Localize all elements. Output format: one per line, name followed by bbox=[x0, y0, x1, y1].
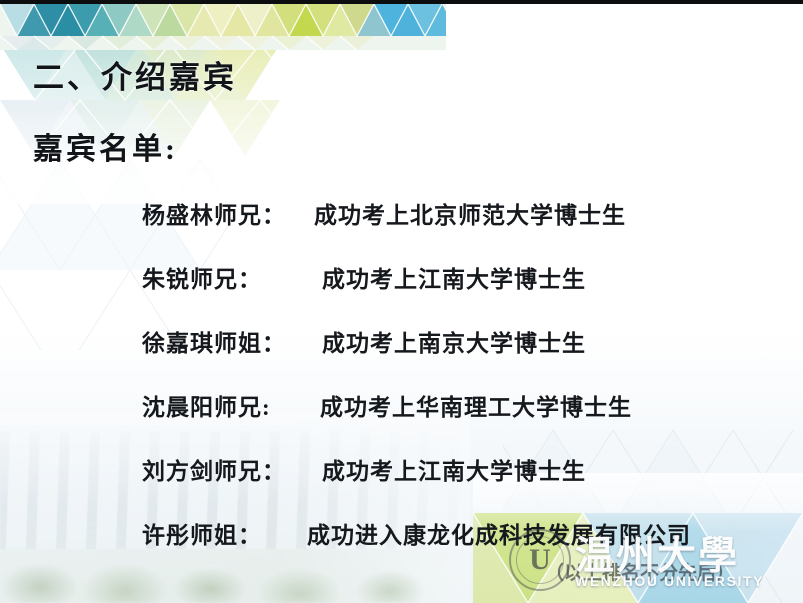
guest-list-item: 杨盛林师兄：成功考上北京师范大学博士生 bbox=[142, 196, 782, 260]
guest-description: 成功考上北京师范大学博士生 bbox=[314, 196, 626, 230]
guest-description: 成功考上江南大学博士生 bbox=[322, 260, 586, 294]
guest-description: 成功进入康龙化成科技发展有限公司 bbox=[307, 516, 691, 550]
guest-name: 刘方剑师兄： bbox=[142, 452, 322, 486]
top-letterbox-edge bbox=[0, 0, 803, 4]
guest-name: 沈晨阳师兄: bbox=[142, 388, 320, 422]
slide-heading-primary: 二、介绍嘉宾 bbox=[33, 52, 237, 97]
guest-description: 成功考上南京大学博士生 bbox=[322, 324, 586, 358]
guest-list-item: 徐嘉琪师姐：成功考上南京大学博士生 bbox=[142, 324, 782, 388]
presentation-slide: 二、介绍嘉宾 嘉宾名单: 杨盛林师兄：成功考上北京师范大学博士生 朱锐师兄：成功… bbox=[0, 0, 803, 603]
header-mosaic-band bbox=[0, 4, 446, 50]
guest-name: 徐嘉琪师姐： bbox=[142, 324, 322, 358]
guest-list-item: 沈晨阳师兄:成功考上华南理工大学博士生 bbox=[142, 388, 782, 452]
ordering-footnote: （以上排名不分先后） bbox=[545, 558, 735, 585]
guest-name: 杨盛林师兄： bbox=[142, 196, 314, 230]
guest-list: 杨盛林师兄：成功考上北京师范大学博士生 朱锐师兄：成功考上江南大学博士生 徐嘉琪… bbox=[142, 196, 782, 580]
guest-list-item: 朱锐师兄：成功考上江南大学博士生 bbox=[142, 260, 782, 324]
guest-description: 成功考上江南大学博士生 bbox=[322, 452, 586, 486]
guest-list-item: 刘方剑师兄：成功考上江南大学博士生 bbox=[142, 452, 782, 516]
guest-name: 朱锐师兄： bbox=[142, 260, 322, 294]
guest-name: 许彤师姐： bbox=[142, 516, 307, 550]
guest-description: 成功考上华南理工大学博士生 bbox=[320, 388, 632, 422]
slide-heading-secondary: 嘉宾名单: bbox=[33, 124, 178, 168]
